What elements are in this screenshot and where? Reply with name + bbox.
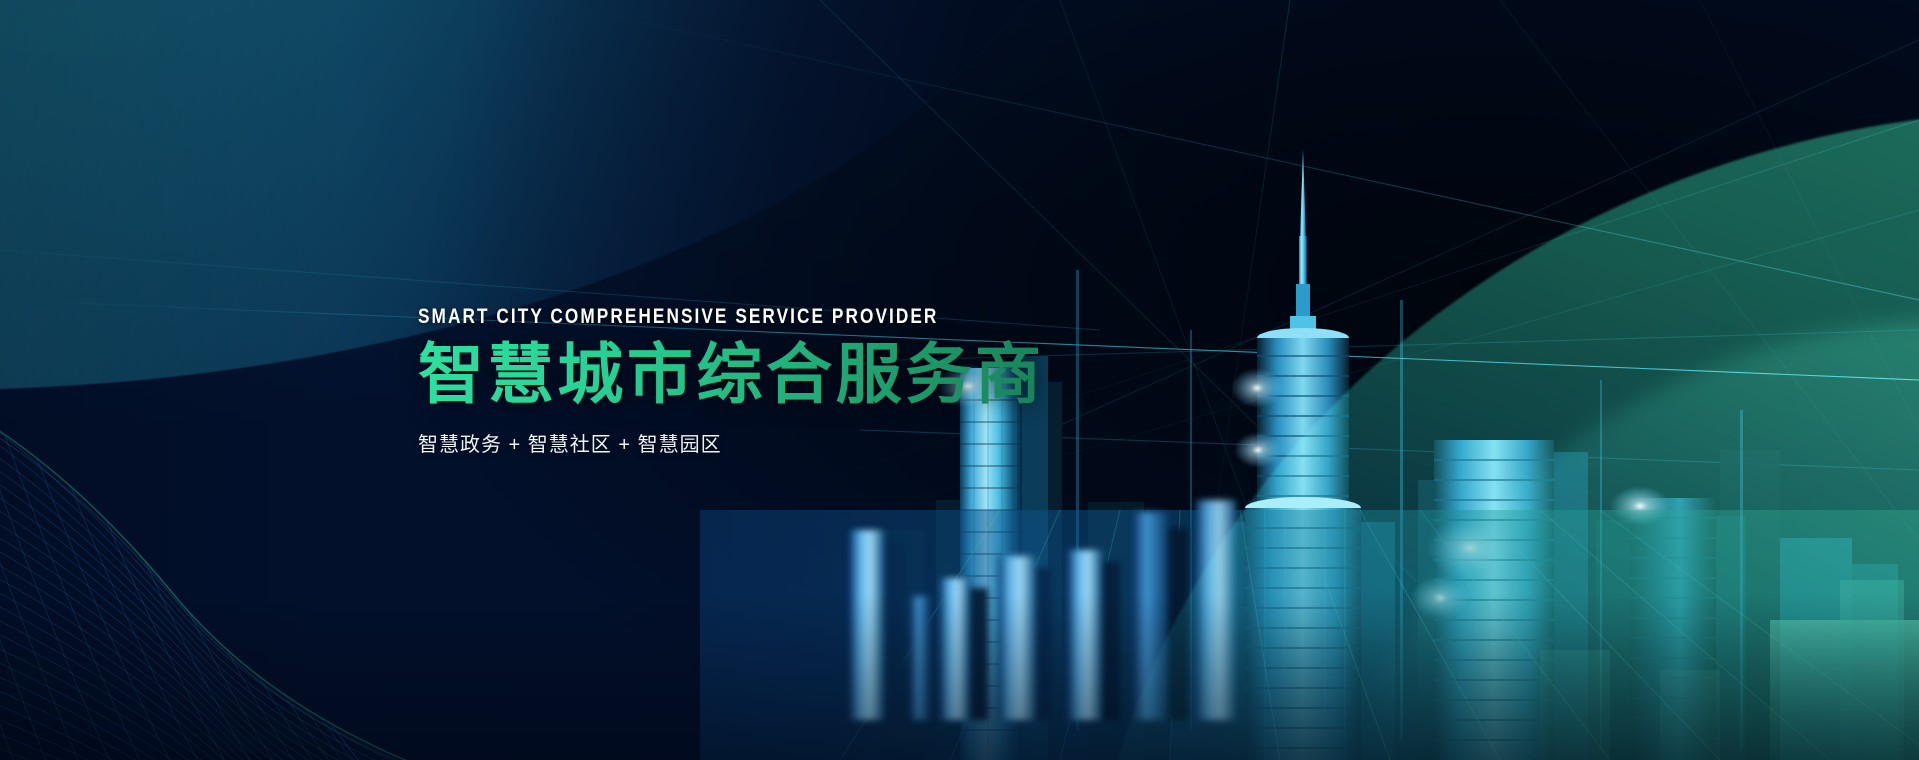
banner-eyebrow: SMART CITY COMPREHENSIVE SERVICE PROVIDE…	[418, 305, 938, 328]
line-mesh-wave	[0, 170, 790, 760]
banner-subline: 智慧政务 + 智慧社区 + 智慧园区	[418, 428, 1053, 457]
banner-headline: 智慧城市综合服务商	[418, 338, 1053, 412]
hero-banner: SMART CITY COMPREHENSIVE SERVICE PROVIDE…	[0, 0, 1919, 760]
hero-text-block: SMART CITY COMPREHENSIVE SERVICE PROVIDE…	[418, 305, 1053, 457]
